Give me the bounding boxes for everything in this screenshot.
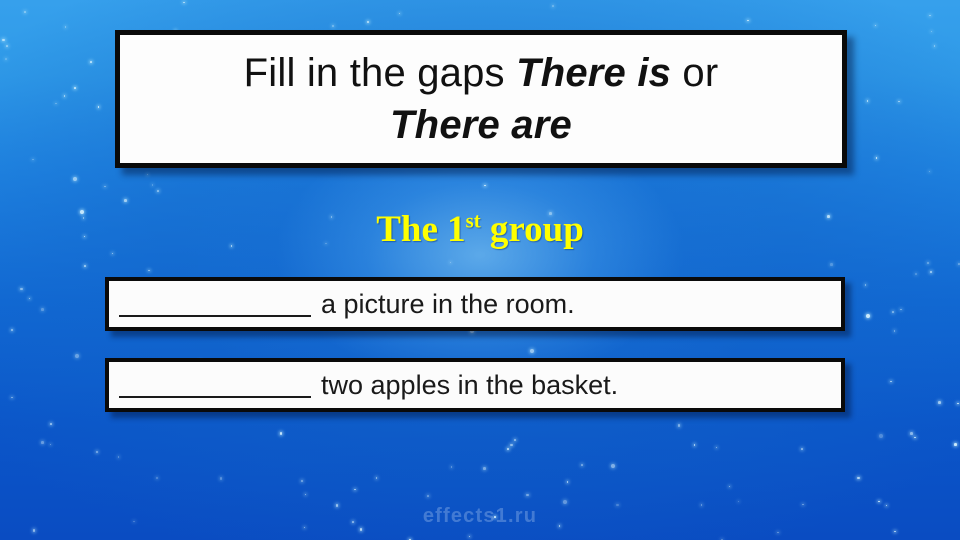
star-speck bbox=[894, 531, 896, 533]
answer-blank-1[interactable] bbox=[119, 315, 311, 317]
star-speck bbox=[301, 480, 304, 483]
star-speck bbox=[157, 190, 159, 192]
star-speck bbox=[6, 45, 8, 47]
star-speck bbox=[954, 443, 957, 446]
star-speck bbox=[514, 439, 516, 441]
sentence-text-2: two apples in the basket. bbox=[109, 370, 618, 400]
sentence-label-1: a picture in the room. bbox=[321, 289, 575, 319]
star-speck bbox=[678, 424, 681, 427]
star-speck bbox=[280, 432, 283, 435]
star-speck bbox=[526, 494, 529, 497]
star-speck bbox=[507, 448, 509, 450]
group-heading-ordinal: st bbox=[466, 211, 481, 233]
star-speck bbox=[451, 466, 453, 468]
star-speck bbox=[915, 273, 917, 275]
star-speck bbox=[376, 477, 378, 479]
star-speck bbox=[894, 330, 896, 332]
star-speck bbox=[5, 58, 7, 60]
star-speck bbox=[183, 2, 185, 4]
star-speck bbox=[801, 448, 803, 450]
star-speck bbox=[927, 262, 930, 265]
star-speck bbox=[694, 444, 696, 446]
star-speck bbox=[879, 434, 883, 438]
star-speck bbox=[332, 25, 335, 28]
sentence-text-1: a picture in the room. bbox=[109, 289, 575, 319]
star-speck bbox=[875, 25, 877, 27]
star-speck bbox=[360, 528, 363, 531]
star-speck bbox=[20, 288, 23, 291]
star-speck bbox=[563, 500, 567, 504]
star-speck bbox=[156, 477, 159, 480]
star-speck bbox=[890, 381, 892, 383]
star-speck bbox=[552, 5, 554, 7]
star-speck bbox=[611, 464, 615, 468]
star-speck bbox=[581, 464, 583, 466]
title-emphasis-there-are: There are bbox=[390, 103, 572, 147]
star-speck bbox=[866, 314, 870, 318]
star-speck bbox=[41, 441, 44, 444]
star-speck bbox=[427, 495, 429, 497]
star-speck bbox=[98, 106, 100, 108]
star-speck bbox=[354, 489, 356, 491]
star-speck bbox=[11, 397, 13, 399]
star-speck bbox=[483, 467, 486, 470]
star-speck bbox=[11, 329, 14, 332]
star-speck bbox=[867, 100, 869, 102]
star-speck bbox=[900, 309, 902, 311]
title-prefix: Fill in the gaps bbox=[244, 51, 516, 95]
answer-blank-2[interactable] bbox=[119, 396, 311, 398]
star-speck bbox=[367, 21, 370, 24]
star-speck bbox=[305, 494, 307, 496]
star-speck bbox=[738, 501, 740, 503]
star-speck bbox=[450, 262, 452, 264]
title-text: Fill in the gaps There is or There are bbox=[230, 47, 733, 151]
star-speck bbox=[41, 308, 44, 311]
star-speck bbox=[148, 270, 150, 272]
star-speck bbox=[32, 159, 34, 161]
star-speck bbox=[50, 423, 52, 425]
star-speck bbox=[878, 501, 880, 503]
star-speck bbox=[957, 403, 959, 405]
title-box: Fill in the gaps There is or There are bbox=[115, 30, 847, 168]
star-speck bbox=[929, 15, 931, 17]
star-speck bbox=[938, 401, 941, 404]
star-speck bbox=[152, 184, 154, 186]
star-speck bbox=[931, 31, 933, 33]
star-speck bbox=[469, 536, 471, 538]
star-speck bbox=[930, 271, 933, 274]
star-speck bbox=[147, 174, 149, 176]
star-speck bbox=[865, 284, 867, 286]
star-speck bbox=[24, 11, 26, 13]
star-speck bbox=[484, 185, 486, 187]
star-speck bbox=[830, 263, 833, 266]
star-speck bbox=[857, 477, 860, 480]
star-speck bbox=[64, 95, 66, 97]
star-speck bbox=[220, 477, 223, 480]
star-speck bbox=[90, 61, 92, 63]
star-speck bbox=[73, 177, 77, 181]
star-speck bbox=[50, 444, 52, 446]
star-speck bbox=[929, 171, 931, 173]
star-speck bbox=[55, 103, 57, 105]
star-speck bbox=[530, 349, 534, 353]
star-speck bbox=[934, 45, 936, 47]
star-speck bbox=[567, 481, 569, 483]
star-speck bbox=[777, 532, 779, 534]
slide-canvas: Fill in the gaps There is or There are T… bbox=[0, 0, 960, 540]
star-speck bbox=[892, 311, 894, 313]
star-speck bbox=[75, 354, 79, 358]
star-speck bbox=[74, 87, 76, 89]
star-speck bbox=[898, 101, 900, 103]
watermark: effects1.ru bbox=[0, 505, 960, 528]
sentence-box-1: a picture in the room. bbox=[105, 277, 845, 331]
group-heading: The 1st group bbox=[0, 208, 960, 252]
star-speck bbox=[747, 20, 749, 22]
star-speck bbox=[399, 13, 401, 15]
title-emphasis-there-is: There is bbox=[516, 51, 671, 95]
sentence-box-2: two apples in the basket. bbox=[105, 358, 845, 412]
title-suffix: or bbox=[671, 51, 718, 95]
star-speck bbox=[112, 253, 114, 255]
star-speck bbox=[104, 186, 106, 188]
star-speck bbox=[716, 447, 718, 449]
star-speck bbox=[510, 444, 513, 447]
star-speck bbox=[33, 529, 36, 532]
star-speck bbox=[729, 486, 731, 488]
star-speck bbox=[65, 26, 67, 28]
star-speck bbox=[84, 265, 86, 267]
group-heading-prefix: The 1 bbox=[376, 209, 465, 250]
star-speck bbox=[118, 456, 120, 458]
star-speck bbox=[876, 157, 878, 159]
star-speck bbox=[96, 451, 99, 454]
star-speck bbox=[914, 437, 916, 439]
star-speck bbox=[2, 39, 5, 42]
sentence-label-2: two apples in the basket. bbox=[321, 370, 618, 400]
star-speck bbox=[29, 298, 31, 300]
group-heading-suffix: group bbox=[481, 209, 584, 250]
star-speck bbox=[910, 432, 913, 435]
star-speck bbox=[124, 199, 127, 202]
